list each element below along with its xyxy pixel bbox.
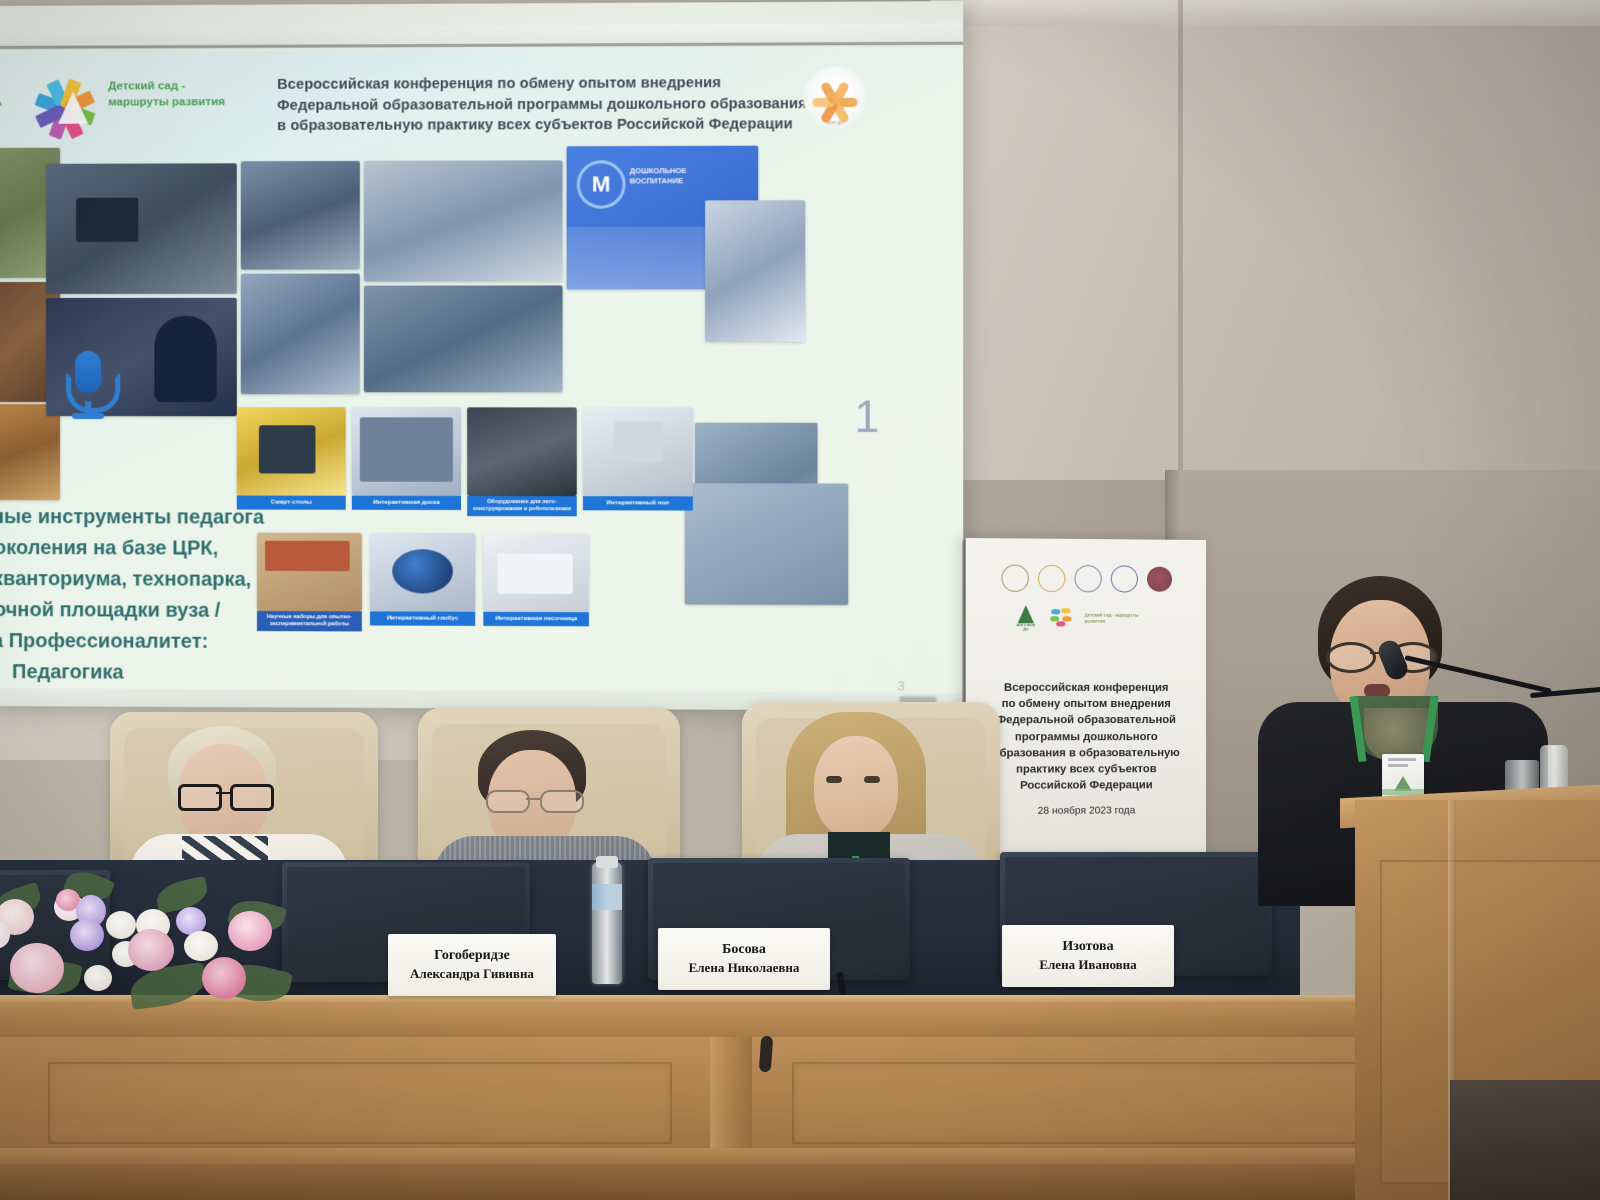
equip-caption-7: Интерактивная песочница [483,612,589,626]
panelist-3-eye-left [826,776,842,783]
slide-photo-1 [46,163,237,294]
slide-photo-3 [241,161,360,270]
banner-logo-mpgu: МПГУ ФОП ДО [1014,605,1038,631]
equip-photo-3 [467,407,577,496]
nameplate-3-first: Елена Ивановна [1039,957,1136,974]
nameplate-1-last: Гогоберидзе [434,947,510,965]
slide-photo-7 [705,200,805,342]
table-bottom-rail [0,1148,1470,1164]
banner-logo-4 [1110,565,1137,592]
banner-title: Всероссийская конференция по обмену опыт… [976,680,1196,795]
panelist-1-glasses [176,784,272,806]
banner-logo-emblem-rf [1001,565,1028,592]
slide-photo-c [0,404,60,500]
equip-caption-4: Интерактивный пол [583,496,693,510]
slide-big-number: 1 [854,392,879,443]
flower-daisy-1 [106,911,136,939]
equip-caption-6: Интерактивный глобус [370,611,475,625]
speaker-badge [1382,754,1424,798]
panelist-3-eye-right [864,776,880,783]
panelist-3-head [814,736,898,838]
table-cable [759,1036,773,1073]
bottle-cap [596,856,618,868]
flower-rose-6 [202,957,246,999]
slide-card-caption: ДОШКОЛЬНОЕ ВОСПИТАНИЕ [630,166,728,186]
equip-photo-1 [237,407,346,496]
banner-logo-3 [1074,565,1101,592]
projection-screen: Детский сад - маршруты развития ы ДО Все… [0,1,963,711]
nameplate-2-last: Босова [722,941,766,959]
ceiling-strip [930,0,1600,26]
letter-a-icon [58,92,88,124]
flower-rose-2 [10,943,64,993]
slide-photo-5 [364,160,563,281]
flower-daisy-4 [184,931,218,961]
slide-photo-6 [364,285,563,392]
conference-photo: Детский сад - маршруты развития ы ДО Все… [0,0,1600,1200]
floor [0,1164,1470,1200]
nameplate-2-first: Елена Николаевна [689,960,800,977]
flower-lisianthus-2 [70,919,104,951]
banner-date: 28 ноября 2023 года [966,805,1206,817]
nameplate-3-last: Изотова [1062,938,1113,956]
flower-rose-5 [228,911,272,951]
flower-arrangement [0,855,310,1015]
banner-logo-pinwheel [1050,607,1072,629]
rollup-banner: МПГУ ФОП ДО Детский сад - маршруты разви… [966,538,1206,877]
equip-photo-4 [583,407,693,496]
bottle-label [592,884,622,910]
projection-screen-surface: Детский сад - маршруты развития ы ДО Все… [0,1,963,711]
banner-logo-row-1 [966,564,1206,593]
flower-daisy-5 [84,965,112,991]
slide-left-text: зные инструменты педагога поколения на б… [0,502,283,689]
metro-m-icon: М [577,160,626,209]
flower-rose-4 [128,929,174,971]
wall-seam [1178,0,1183,480]
pinwheel-icon [32,70,98,136]
slide-logo: Детский сад - маршруты развития [24,59,275,146]
podium-right-shadow [1450,1080,1600,1200]
microphone-icon [58,347,118,425]
slide-photo-4 [241,274,360,395]
presentation-taskbar[interactable] [0,23,963,50]
nameplate-3: Изотова Елена Ивановна [1002,925,1174,987]
nameplate-2: Босова Елена Николаевна [658,928,830,990]
equip-photo-7 [483,533,589,612]
equip-caption-2: Интерактивная доска [352,496,461,510]
equip-photo-2 [352,407,461,496]
banner-logo-2023 [1146,567,1171,592]
slide-photo-9 [685,483,849,605]
slide-small-number: 3 [897,678,904,693]
partial-left-logo: ы ДО [0,62,10,142]
nameplate-1: Гогоберидзе Александра Гививна [388,934,556,996]
slide-logo-text: Детский сад - маршруты развития [108,79,259,111]
banner-logo-2 [1038,565,1065,592]
nameplate-1-first: Александра Гививна [410,966,534,983]
emblem-caption: ФОП ДО [803,120,867,125]
panelist-2-glasses [484,790,582,810]
equip-photo-6 [370,533,475,612]
slide-content: Детский сад - маршруты развития ы ДО Все… [0,48,963,693]
banner-logo-row-2: МПГУ ФОП ДО Детский сад - маршруты разви… [966,605,1206,632]
right-wall-upper [940,0,1600,480]
slide-title: Всероссийская конференция по обмену опыт… [277,73,846,137]
conference-emblem-icon: ФОП ДО [803,66,867,129]
equip-caption-3: Оборудование для лего-конструирования и … [467,496,577,516]
banner-logo-row2-text: Детский сад - маршруты развития [1085,612,1159,625]
water-bottle[interactable] [592,862,622,984]
table-panel-2 [792,1062,1436,1144]
table-panel-1 [48,1062,672,1144]
